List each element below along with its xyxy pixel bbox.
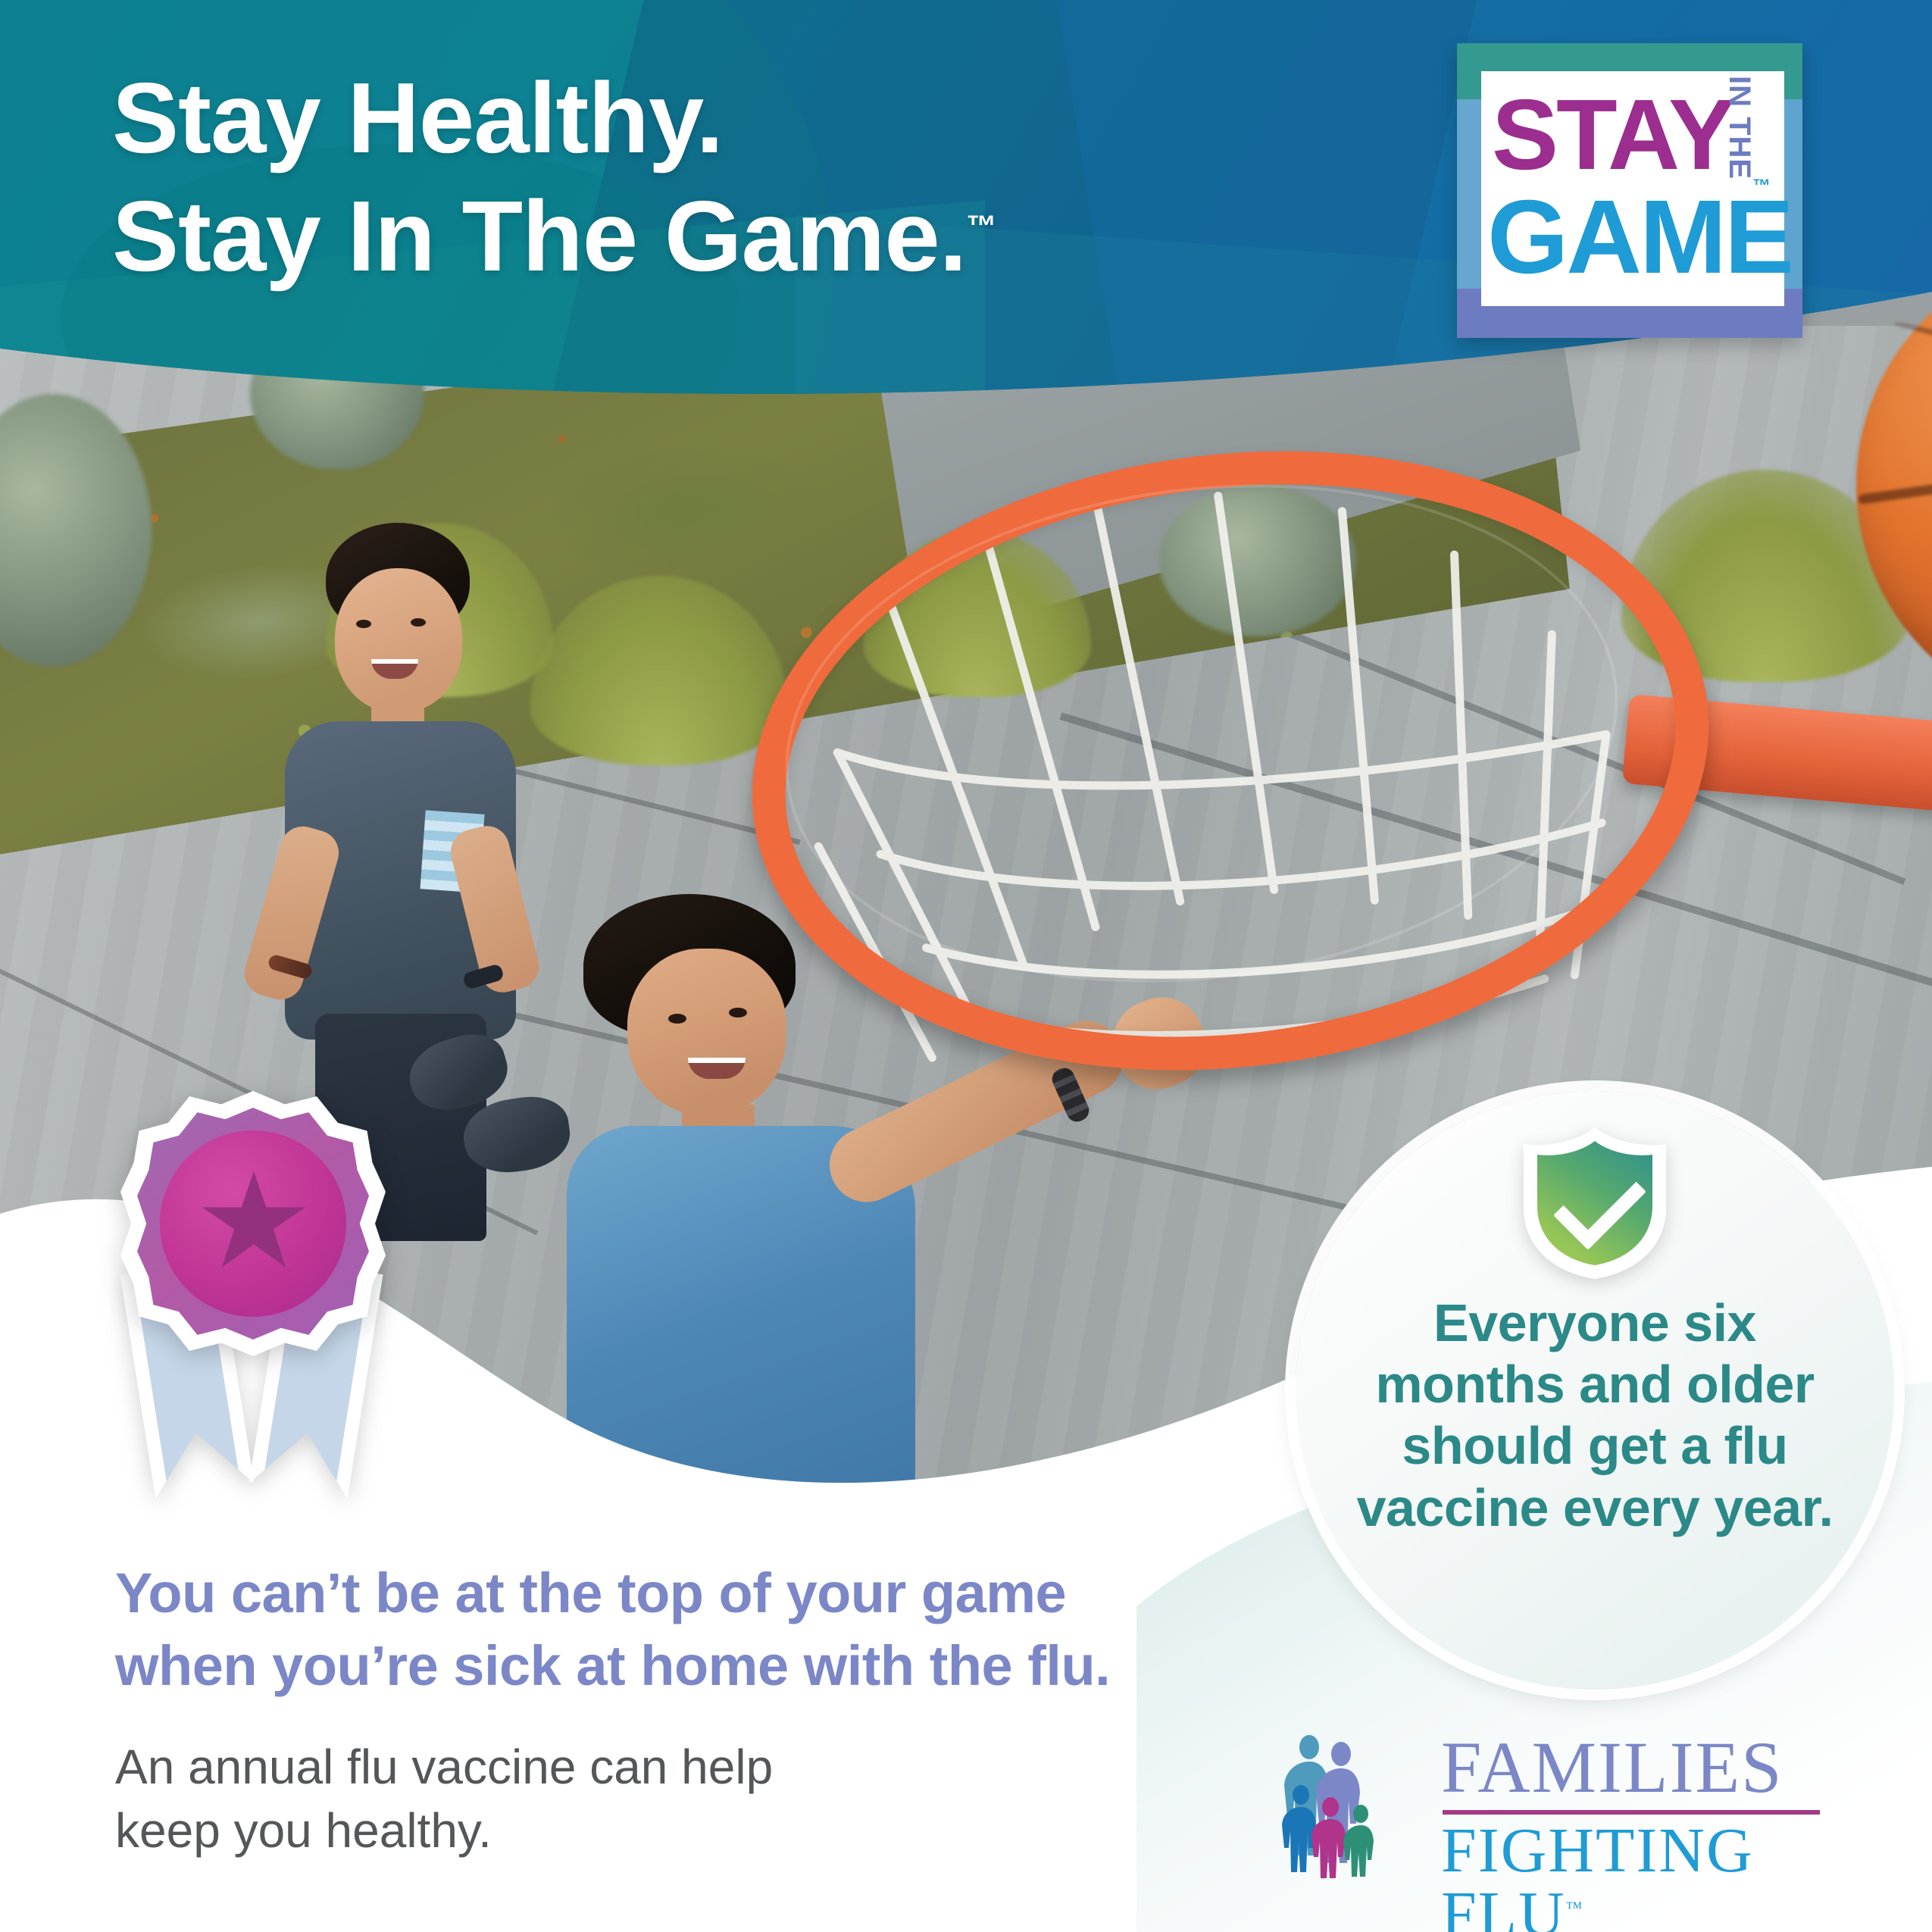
- subheadline: You can’t be at the top of your game whe…: [115, 1557, 1297, 1702]
- headline-line-1: Stay Healthy.: [112, 62, 723, 174]
- logo-word-stay: STAY: [1492, 85, 1733, 185]
- body-copy-line-2: keep you healthy.: [115, 1799, 1100, 1862]
- page-title: Stay Healthy. Stay In The Game.™: [112, 59, 1362, 295]
- fff-wordmark: FAMILIES FIGHTING FLU™: [1441, 1731, 1841, 1883]
- family-figures-icon: [1280, 1734, 1424, 1878]
- stay-in-the-game-logo: STAY IN THE ™ GAME: [1457, 43, 1802, 338]
- fff-fighting-flu-text: FIGHTING FLU: [1441, 1815, 1754, 1932]
- headline-trademark: ™: [966, 210, 996, 243]
- body-copy: An annual flu vaccine can help keep you …: [115, 1735, 1100, 1863]
- flu-vaccine-poster: Stay Healthy. Stay In The Game.™ STAY IN…: [0, 0, 1932, 1932]
- ribbon-rosette: [120, 1091, 386, 1356]
- body-copy-line-1: An annual flu vaccine can help: [115, 1735, 1100, 1799]
- boy-figure: [250, 523, 568, 1152]
- logo-band-left: [1457, 99, 1481, 289]
- award-ribbon-icon: [102, 1091, 420, 1515]
- subheadline-line-1: You can’t be at the top of your game: [115, 1557, 1297, 1630]
- boy-eye: [411, 618, 426, 627]
- man-eye: [668, 1014, 686, 1024]
- boy-face: [335, 568, 462, 712]
- fff-fighting-flu-row: FIGHTING FLU™: [1441, 1819, 1841, 1932]
- logo-word-in-the: IN THE: [1722, 76, 1756, 180]
- headline-line-2: Stay In The Game.: [112, 180, 966, 292]
- callout-text: Everyone six months and older should get…: [1352, 1293, 1837, 1539]
- fff-families-text: FAMILIES: [1441, 1731, 1841, 1804]
- shield-check-icon: [1524, 1127, 1666, 1279]
- fff-divider-rule: [1443, 1810, 1820, 1815]
- fff-trademark: ™: [1566, 1898, 1583, 1917]
- logo-word-game: GAME: [1487, 185, 1792, 289]
- subheadline-line-2: when you’re sick at home with the flu.: [115, 1630, 1297, 1702]
- vaccine-recommendation-callout: Everyone six months and older should get…: [1296, 1091, 1894, 1690]
- families-fighting-flu-logo: FAMILIES FIGHTING FLU™: [1280, 1731, 1841, 1894]
- boy-eye: [356, 620, 371, 628]
- logo-inner-panel: STAY IN THE ™ GAME: [1481, 71, 1784, 306]
